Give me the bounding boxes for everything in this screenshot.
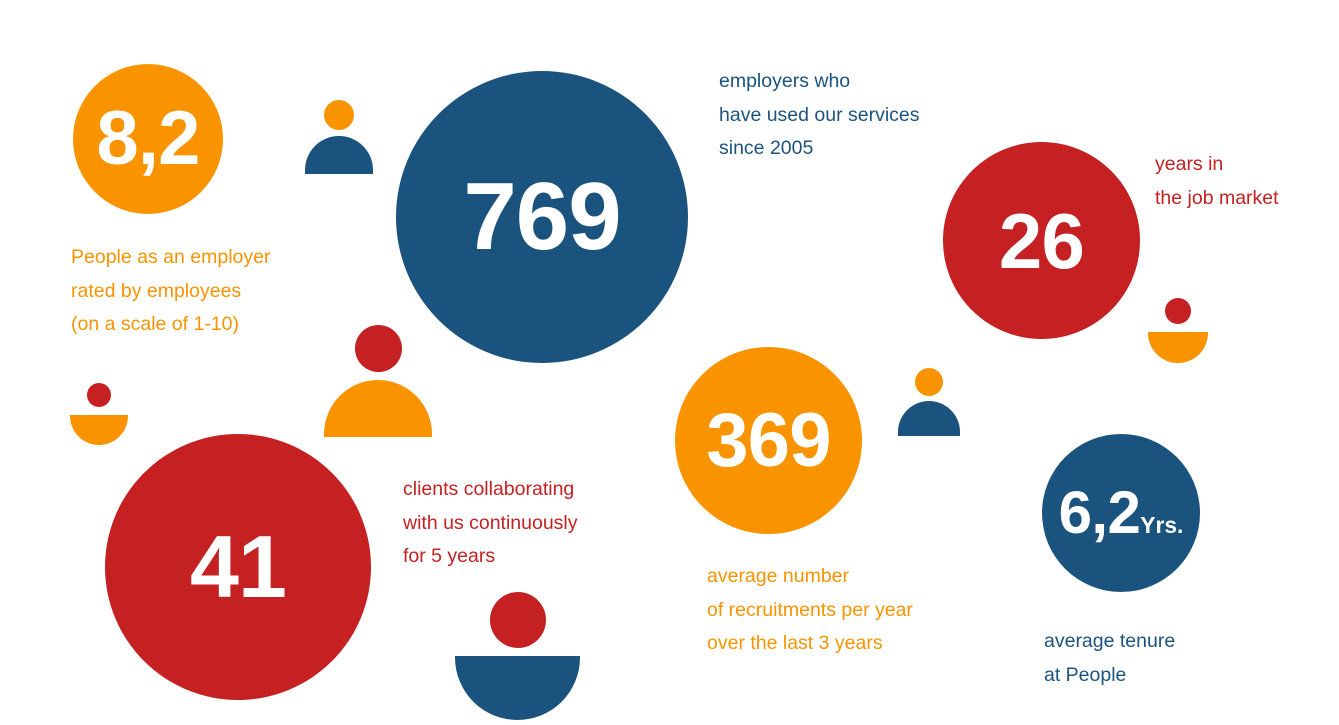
- stat-value-recruitments-per-year: 369: [706, 403, 831, 479]
- person-red-head-blue-bowl-bottom-icon: [455, 592, 580, 725]
- person-head-icon: [1165, 298, 1191, 324]
- person-body-icon: [455, 656, 580, 720]
- stat-caption-long-term-clients: clients collaborating with us continuous…: [403, 473, 693, 574]
- person-red-head-orange-bowl-left-icon: [70, 383, 128, 445]
- person-body-icon: [305, 136, 373, 174]
- stat-circle-years-in-market: 26: [943, 142, 1140, 339]
- stat-circle-average-tenure: 6,2Yrs.: [1042, 434, 1200, 592]
- person-head-icon: [490, 592, 546, 648]
- person-orange-head-blue-body-right-icon: [898, 368, 960, 440]
- person-body-icon: [1148, 332, 1208, 363]
- stat-number-average-tenure: 6,2: [1059, 479, 1141, 546]
- stat-value-average-tenure: 6,2Yrs.: [1059, 483, 1184, 543]
- person-head-icon: [324, 100, 354, 130]
- stat-value-long-term-clients: 41: [190, 523, 286, 611]
- stat-suffix-average-tenure: Yrs.: [1140, 512, 1183, 538]
- stat-caption-years-in-market: years in the job market: [1155, 148, 1339, 215]
- stat-circle-recruitments-per-year: 369: [675, 347, 862, 534]
- stat-caption-recruitments-per-year: average number of recruitments per year …: [707, 560, 1007, 661]
- stat-value-employers-served: 769: [463, 169, 620, 265]
- stat-caption-employers-served: employers who have used our services sin…: [719, 65, 1019, 166]
- person-body-icon: [70, 415, 128, 445]
- stat-caption-average-tenure: average tenure at People: [1044, 625, 1284, 692]
- person-body-icon: [898, 401, 960, 436]
- stat-value-years-in-market: 26: [999, 202, 1084, 280]
- person-orange-head-blue-body-top-icon: [305, 100, 373, 178]
- person-red-head-orange-bowl-right-icon: [1148, 298, 1208, 364]
- stat-circle-employers-served: 769: [396, 71, 688, 363]
- infographic-canvas: 8,2 People as an employer rated by emplo…: [0, 0, 1339, 725]
- person-head-icon: [87, 383, 111, 407]
- person-head-icon: [355, 325, 402, 372]
- person-body-icon: [324, 380, 432, 437]
- person-head-icon: [915, 368, 943, 396]
- stat-circle-long-term-clients: 41: [105, 434, 371, 700]
- stat-circle-employee-rating: 8,2: [73, 64, 223, 214]
- stat-value-employee-rating: 8,2: [96, 101, 199, 177]
- person-red-head-orange-body-mid-icon: [324, 325, 432, 437]
